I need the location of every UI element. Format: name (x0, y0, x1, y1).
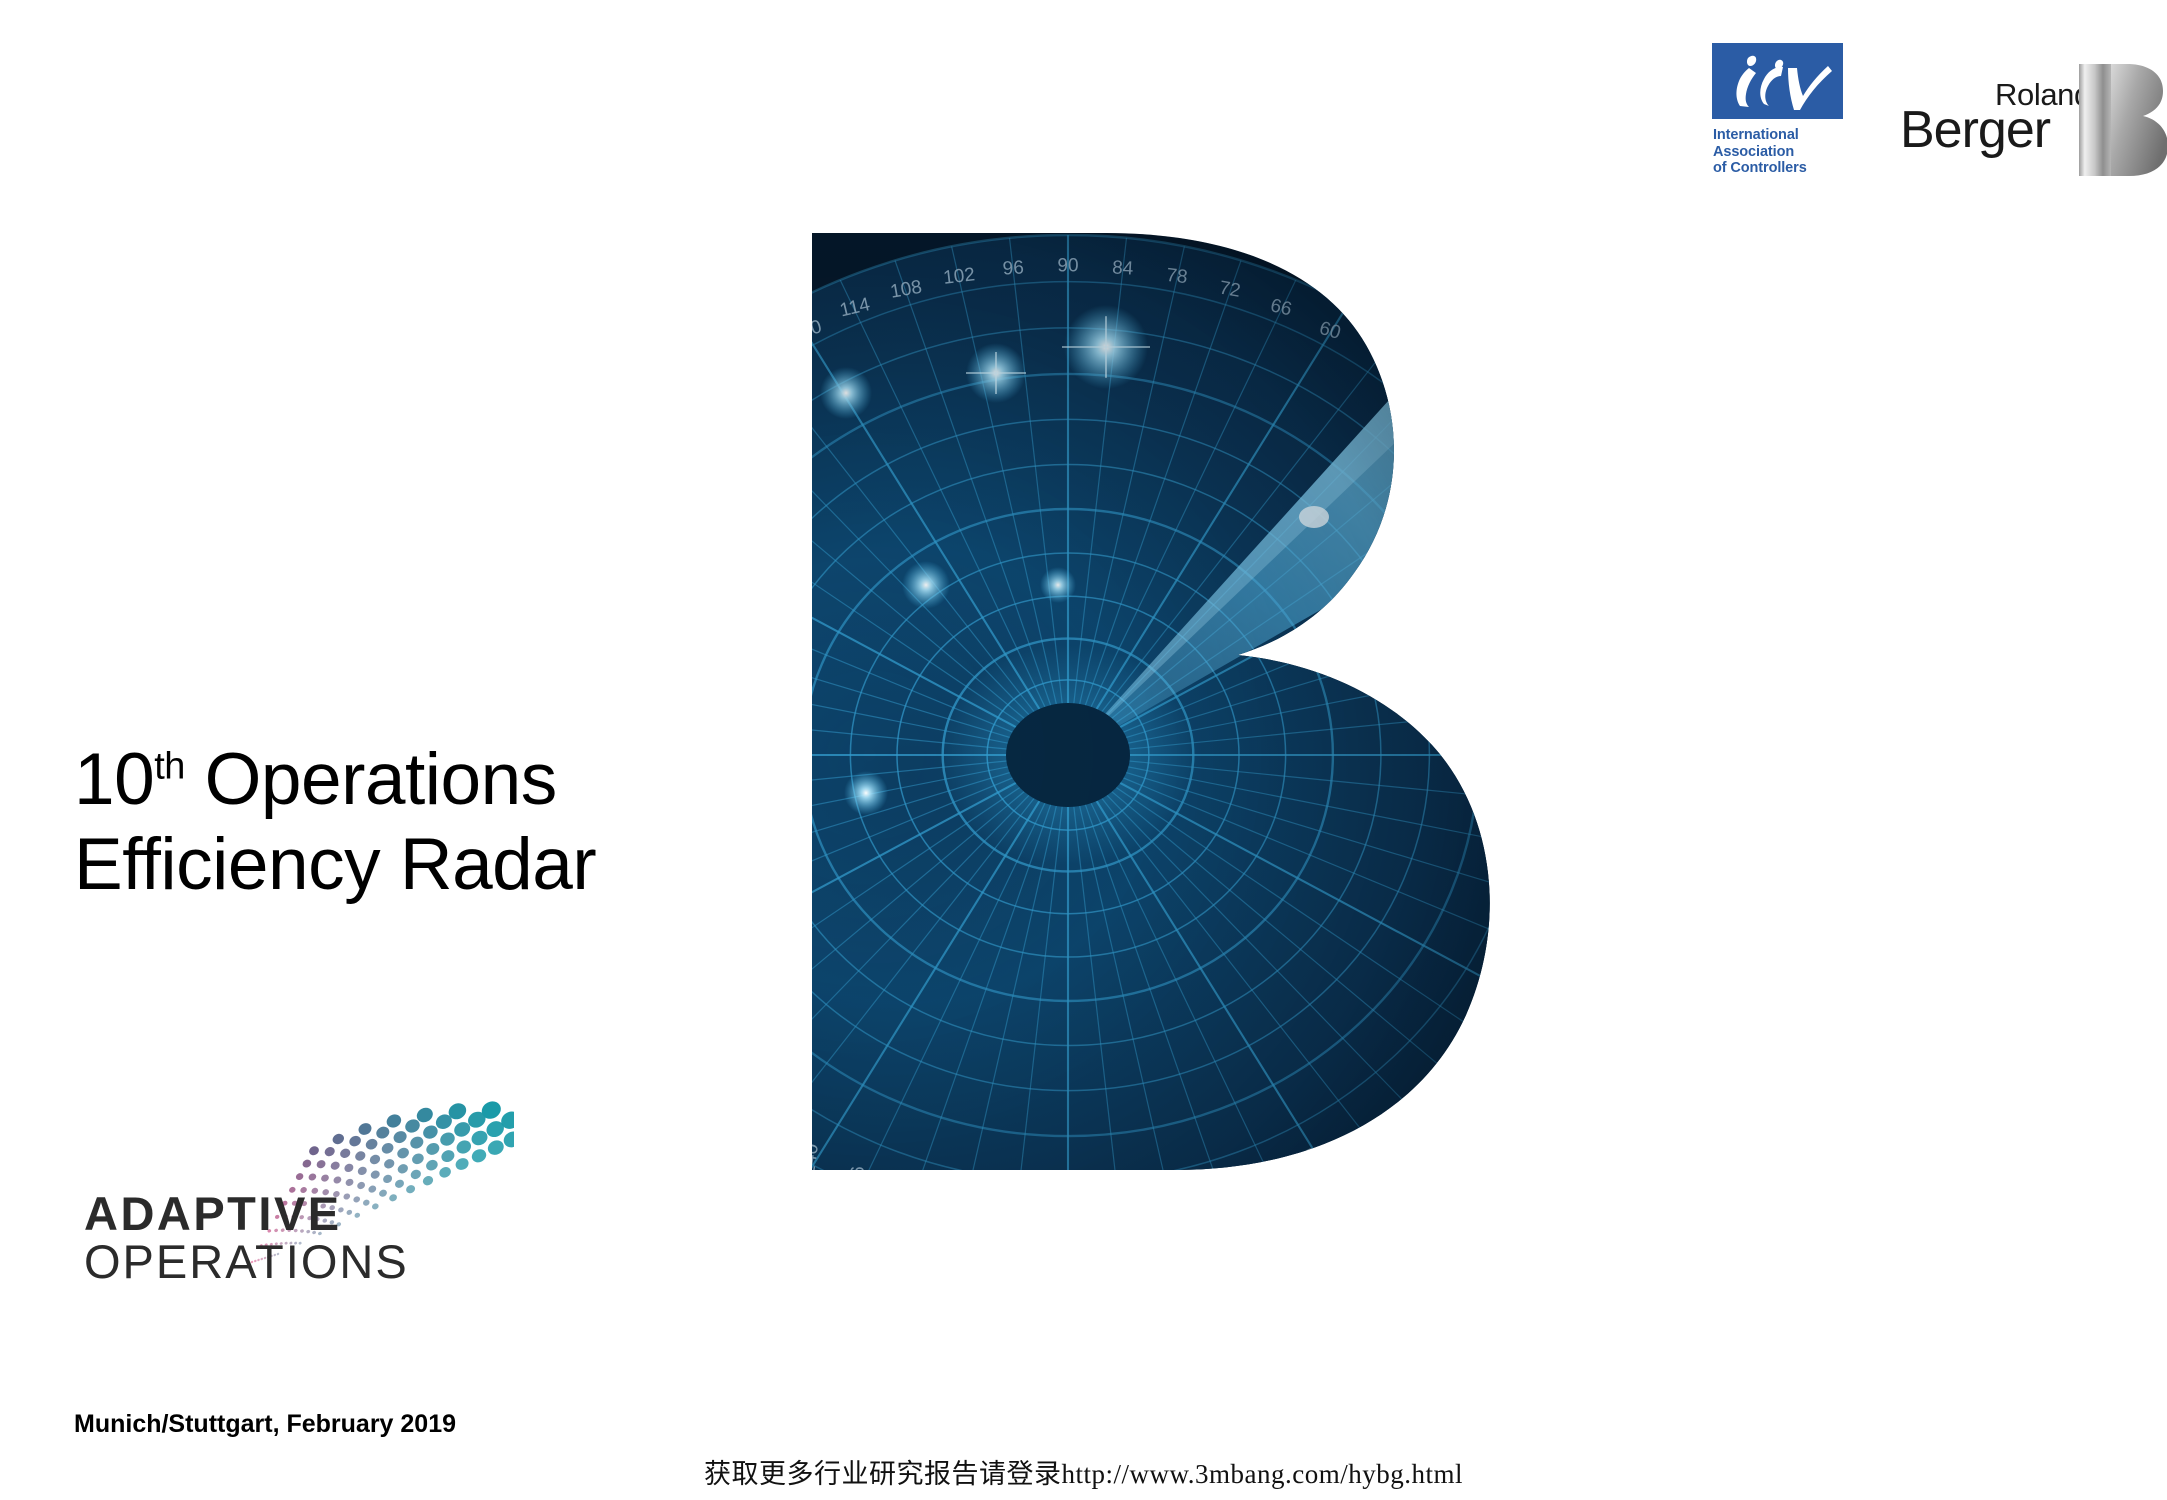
roland-berger-line2: Berger (1900, 100, 2050, 160)
icv-subtitle-line2: Association (1713, 144, 1883, 161)
icv-wordmark-icon (1712, 43, 1843, 119)
svg-text:288: 288 (1203, 1183, 1233, 1220)
icv-logo: International Association of Controllers (1712, 43, 1862, 193)
svg-text:336: 336 (1521, 937, 1558, 974)
page-title-ordinal-suffix: th (154, 746, 185, 788)
adaptive-operations-wordmark: ADAPTIVE OPERATIONS (84, 1190, 424, 1288)
radar-b-graphic: 1201141081029690847872666024024625225826… (806, 225, 1576, 1280)
radar-vignette (806, 225, 1576, 1280)
adaptive-operations-line1: ADAPTIVE (84, 1190, 424, 1237)
svg-text:258: 258 (947, 1197, 969, 1230)
roland-berger-b-icon (2077, 60, 2167, 180)
page-title-line2: Efficiency Radar (74, 823, 834, 908)
icv-subtitle-line1: International (1713, 127, 1883, 144)
svg-text:312: 312 (1395, 1098, 1430, 1136)
page-title-number: 10 (74, 739, 154, 820)
icv-subtitle-line3: of Controllers (1713, 160, 1883, 177)
svg-text:318: 318 (1433, 1063, 1468, 1101)
svg-text:276: 276 (1102, 1204, 1129, 1239)
page-title: 10th Operations Efficiency Radar (74, 738, 834, 907)
svg-text:330: 330 (1497, 982, 1534, 1020)
svg-text:264: 264 (998, 1204, 1022, 1238)
adaptive-operations-line2: OPERATIONS (84, 1237, 424, 1288)
svg-text:246: 246 (846, 1166, 869, 1199)
svg-text:324: 324 (1467, 1023, 1503, 1061)
roland-berger-logo: Roland Berger (1905, 45, 2167, 180)
svg-text:282: 282 (1153, 1196, 1182, 1232)
svg-text:270: 270 (1050, 1207, 1076, 1242)
svg-text:294: 294 (1252, 1166, 1284, 1204)
adaptive-operations-logo: ADAPTIVE OPERATIONS (84, 1090, 514, 1310)
page-title-line1-rest: Operations (185, 739, 557, 820)
watermark-url: 获取更多行业研究报告请登录http://www.3mbang.com/hybg.… (0, 1452, 2167, 1491)
logo-bar: International Association of Controllers… (1700, 25, 2167, 190)
svg-text:306: 306 (1352, 1130, 1386, 1168)
svg-text:252: 252 (896, 1184, 917, 1216)
radar-b-body: 1201141081029690847872666024024625225826… (806, 225, 1576, 1280)
icv-subtitle: International Association of Controllers (1713, 127, 1883, 177)
page-title-line1: 10th Operations (74, 738, 834, 823)
place-and-date: Munich/Stuttgart, February 2019 (74, 1410, 456, 1439)
